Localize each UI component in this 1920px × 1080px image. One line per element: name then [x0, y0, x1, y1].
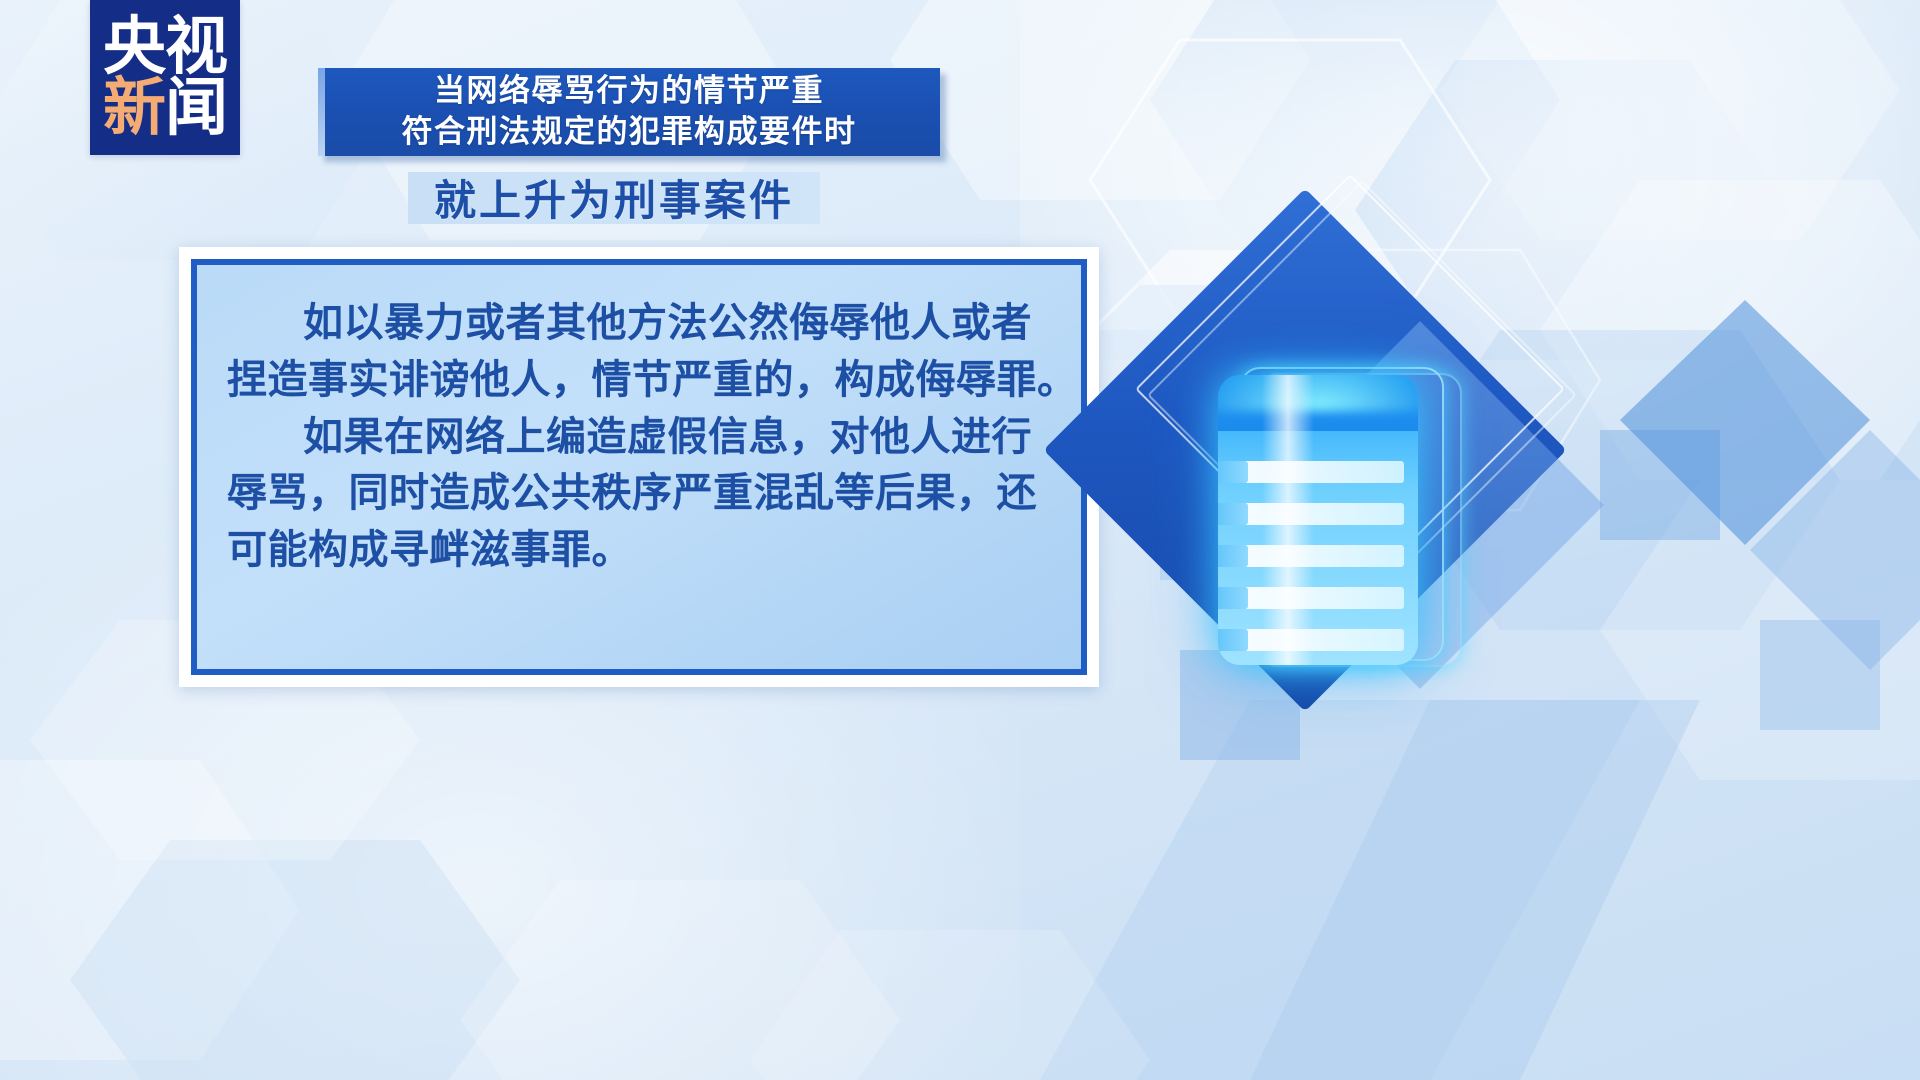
document-icon-tab	[1218, 545, 1248, 567]
document-icon-tab	[1218, 503, 1248, 525]
content-card-frame: 如以暴力或者其他方法公然侮辱他人或者 捏造事实诽谤他人，情节严重的，构成侮辱罪。…	[179, 247, 1099, 687]
logo-char-wen: 闻	[165, 78, 227, 138]
content-line: 如果在网络上编造虚假信息，对他人进行	[227, 409, 1055, 466]
document-icon-tab	[1218, 629, 1248, 651]
document-icon	[1218, 375, 1418, 665]
content-card: 如以暴力或者其他方法公然侮辱他人或者 捏造事实诽谤他人，情节严重的，构成侮辱罪。…	[191, 259, 1087, 675]
document-icon-row	[1232, 461, 1404, 483]
document-icon-glow	[1218, 375, 1418, 411]
content-line: 如以暴力或者其他方法公然侮辱他人或者	[227, 295, 1055, 352]
logo-char-shi: 视	[165, 17, 227, 77]
title-banner-body: 当网络辱骂行为的情节严重 符合刑法规定的犯罪构成要件时	[318, 68, 940, 156]
content-paragraph-list: 如以暴力或者其他方法公然侮辱他人或者 捏造事实诽谤他人，情节严重的，构成侮辱罪。…	[227, 295, 1055, 579]
headline-secondary-text: 就上升为刑事案件	[434, 167, 794, 228]
document-icon-shine	[1262, 375, 1314, 665]
logo-char-xin: 新	[103, 78, 165, 138]
title-banner: 当网络辱骂行为的情节严重 符合刑法规定的犯罪构成要件时	[318, 68, 940, 156]
title-banner-line-1: 当网络辱骂行为的情节严重	[434, 71, 824, 112]
cctv-news-logo: 央 视 新 闻	[90, 0, 240, 155]
document-icon-row	[1232, 503, 1404, 525]
title-banner-accent-bar	[318, 68, 325, 156]
content-line: 捏造事实诽谤他人，情节严重的，构成侮辱罪。	[227, 352, 1055, 409]
document-icon-tab	[1218, 587, 1248, 609]
document-icon-row	[1232, 545, 1404, 567]
headline-secondary: 就上升为刑事案件	[408, 166, 820, 228]
document-icon-tab	[1218, 461, 1248, 483]
document-diamond-graphic	[1090, 245, 1560, 785]
logo-line-2: 新 闻	[103, 78, 227, 138]
logo-char-yang: 央	[103, 17, 165, 77]
logo-line-1: 央 视	[103, 17, 227, 77]
title-banner-line-2: 符合刑法规定的犯罪构成要件时	[402, 112, 857, 153]
document-icon-row	[1232, 629, 1404, 651]
content-line: 可能构成寻衅滋事罪。	[227, 522, 1055, 579]
document-icon-row	[1232, 587, 1404, 609]
content-line: 辱骂，同时造成公共秩序严重混乱等后果，还	[227, 465, 1055, 522]
